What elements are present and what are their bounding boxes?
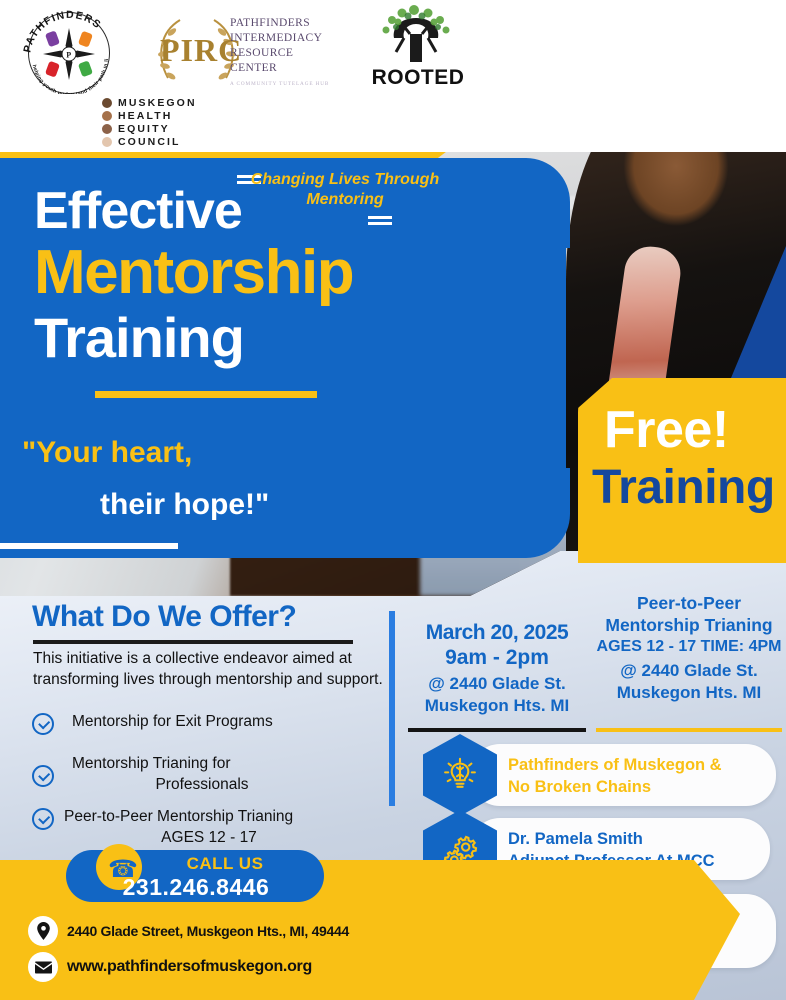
offer-item-label: Mentorship Trianing for bbox=[72, 753, 377, 774]
mhec-row-4: COUNCIL bbox=[102, 135, 197, 148]
pirc-line-1: PATHFINDERS bbox=[230, 16, 354, 31]
svg-text:P: P bbox=[66, 51, 71, 60]
offer-item-label: Mentorship for Exit Programs bbox=[72, 711, 377, 732]
main-event-block: March 20, 2025 9am - 2pm @ 2440 Glade St… bbox=[404, 620, 590, 717]
tagline-dash-right-icon bbox=[368, 216, 392, 225]
offer-heading: What Do We Offer? bbox=[32, 600, 296, 634]
website-text[interactable]: www.pathfindersofmuskegon.org bbox=[67, 958, 312, 976]
mhec-row-2: HEALTH bbox=[102, 109, 197, 122]
pathfinders-logo-mark: PATHFINDERS helping youth understand the… bbox=[12, 6, 130, 94]
check-circle-icon bbox=[32, 713, 54, 735]
offer-item-label: Peer-to-Peer Mentorship Trianing bbox=[64, 806, 384, 827]
title-training: Training bbox=[34, 310, 244, 366]
partner-card-1-text: Pathfinders of Muskegon & No Broken Chai… bbox=[508, 754, 768, 798]
offer-heading-rule bbox=[33, 640, 353, 644]
website-row: www.pathfindersofmuskegon.org bbox=[28, 952, 312, 982]
envelope-icon bbox=[28, 952, 58, 982]
free-training-label: Training bbox=[592, 460, 775, 515]
mhec-dot-2 bbox=[102, 111, 112, 121]
offer-list-item: Mentorship Trianing for Professionals bbox=[20, 753, 380, 797]
offer-description: This initiative is a collective endeavor… bbox=[33, 648, 383, 690]
mhec-label-4: COUNCIL bbox=[118, 136, 181, 148]
pirc-line-3: RESOURCE bbox=[230, 46, 354, 61]
free-training-panel: Free! Training bbox=[578, 378, 786, 563]
event-time: 9am - 2pm bbox=[404, 645, 590, 670]
check-circle-icon bbox=[32, 765, 54, 787]
main-event-rule bbox=[408, 728, 586, 732]
address-text: 2440 Glade Street, Muskgeon Hts., MI, 49… bbox=[67, 923, 349, 939]
event-venue-line-2: Muskegon Hts. MI bbox=[404, 695, 590, 717]
hero-tagline: Changing Lives Through Mentoring bbox=[250, 170, 440, 210]
tree-icon bbox=[352, 4, 480, 68]
mhec-row-1: MUSKEGON bbox=[102, 96, 197, 109]
logo-band: PATHFINDERS helping youth understand the… bbox=[0, 0, 786, 152]
partner-2-line-1: Dr. Pamela Smith bbox=[508, 828, 768, 850]
column-divider bbox=[389, 611, 395, 806]
partner-1-line-2: No Broken Chains bbox=[508, 776, 768, 798]
peer-ages-time: AGES 12 - 17 TIME: 4PM bbox=[592, 636, 786, 657]
address-row: 2440 Glade Street, Muskgeon Hts., MI, 49… bbox=[28, 916, 349, 946]
mhec-label-2: HEALTH bbox=[118, 110, 172, 122]
title-effective: Effective bbox=[34, 185, 242, 237]
mhec-label-1: MUSKEGON bbox=[118, 97, 197, 109]
peer-venue-line-1: @ 2440 Glade St. bbox=[592, 660, 786, 682]
check-circle-icon bbox=[32, 808, 54, 830]
hero-quote-line-2: their hope!" bbox=[100, 488, 269, 522]
flyer-page: PATHFINDERS helping youth understand the… bbox=[0, 0, 786, 1000]
location-pin-icon bbox=[28, 916, 58, 946]
pirc-line-4: CENTER bbox=[230, 61, 354, 76]
pirc-subtitle: A COMMUNITY TUTELAGE HUB bbox=[230, 77, 354, 92]
event-venue-line-1: @ 2440 Glade St. bbox=[404, 673, 590, 695]
offer-list-item: Mentorship for Exit Programs bbox=[20, 711, 380, 744]
offer-list-item: Peer-to-Peer Mentorship Trianing AGES 12… bbox=[20, 806, 380, 850]
peer-venue-line-2: Muskegon Hts. MI bbox=[592, 682, 786, 704]
svg-text:PATHFINDERS: PATHFINDERS bbox=[21, 9, 103, 54]
title-mentorship: Mentorship bbox=[34, 242, 353, 304]
hero-quote-underline bbox=[0, 543, 178, 549]
mhec-dot-3 bbox=[102, 124, 112, 134]
mhec-row-3: EQUITY bbox=[102, 122, 197, 135]
hero-quote-line-1: "Your heart, bbox=[22, 436, 192, 470]
pirc-name-lines: PATHFINDERS INTERMEDIACY RESOURCE CENTER… bbox=[230, 16, 354, 92]
content-section: What Do We Offer? This initiative is a c… bbox=[0, 596, 786, 1000]
peer-title-line-2: Mentorship Trianing bbox=[592, 614, 786, 636]
partner-1-line-1: Pathfinders of Muskegon & bbox=[508, 754, 768, 776]
mhec-label-3: EQUITY bbox=[118, 123, 170, 135]
hero-text-group: Effective Mentorship Training Changing L… bbox=[0, 158, 566, 558]
title-underline bbox=[95, 391, 317, 398]
offer-item-sublabel: AGES 12 - 17 bbox=[64, 827, 354, 848]
muskegon-health-equity-council-logo: MUSKEGON HEALTH EQUITY COUNCIL bbox=[78, 96, 278, 150]
event-date: March 20, 2025 bbox=[404, 620, 590, 645]
phone-number[interactable]: 231.246.8446 bbox=[80, 874, 312, 901]
peer-event-rule bbox=[596, 728, 782, 732]
pathfinders-logo: PATHFINDERS helping youth understand the… bbox=[12, 6, 130, 94]
mhec-dot-1 bbox=[102, 98, 112, 108]
pirc-logo: PIRC PATHFINDERS INTERMEDIACY RESOURCE C… bbox=[142, 10, 352, 96]
peer-title-line-1: Peer-to-Peer bbox=[592, 592, 786, 614]
offer-list: Mentorship for Exit Programs Mentorship … bbox=[20, 711, 380, 859]
offer-item-sublabel: Professionals bbox=[72, 774, 332, 795]
peer-event-block: Peer-to-Peer Mentorship Trianing AGES 12… bbox=[592, 592, 786, 704]
rooted-wordmark: ROOTED bbox=[358, 66, 478, 90]
call-us-label: CALL US bbox=[150, 854, 300, 874]
mhec-dot-4 bbox=[102, 137, 112, 147]
pirc-line-2: INTERMEDIACY bbox=[230, 31, 354, 46]
free-label: Free! bbox=[604, 400, 729, 460]
rooted-logo: ROOTED bbox=[352, 4, 480, 104]
hero-section: Effective Mentorship Training Changing L… bbox=[0, 96, 786, 596]
